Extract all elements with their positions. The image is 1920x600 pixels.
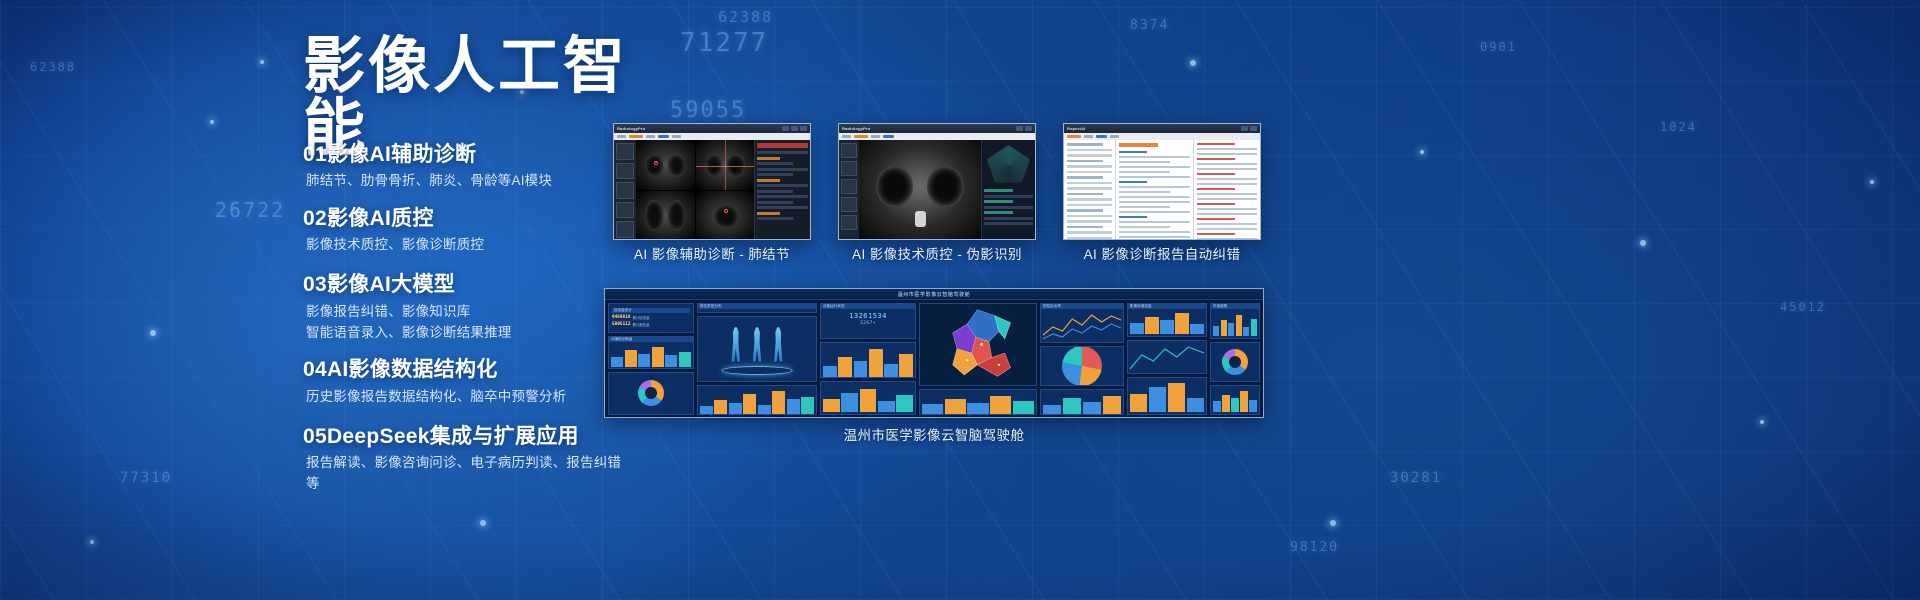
line-chart-card[interactable]: 阳性检出率 — [1040, 303, 1124, 343]
feature-list: 01影像AI辅助诊断 肺结节、肋骨骨折、肺炎、骨龄等AI模块 02影像AI质控 … — [303, 142, 633, 507]
kpi-label: 累计检查量 — [633, 315, 650, 320]
dashboard-header: 温州市医学影像云智脑驾驶舱 — [605, 289, 1263, 300]
panel-title: 影像存储容量 — [1130, 304, 1152, 309]
image-grid[interactable] — [636, 140, 754, 240]
toolbar-button[interactable] — [782, 126, 789, 131]
panel-header — [757, 143, 808, 148]
qc-row[interactable] — [984, 217, 1033, 220]
menubar — [839, 133, 1035, 140]
finding-row[interactable] — [757, 206, 808, 209]
finding-row[interactable] — [757, 157, 780, 160]
menu-item[interactable] — [1096, 135, 1107, 138]
ct-slice-sagittal[interactable] — [696, 191, 755, 240]
panel-title: 年度趋势 — [1213, 304, 1227, 309]
kpi-value: 6459818 — [612, 315, 631, 320]
feature-subtitle-05: 报告解读、影像咨询问诊、电子病历判读、报告纠错等 — [303, 453, 633, 495]
dashboard-column-trend: 阳性检出率 — [1040, 303, 1124, 415]
donut-chart — [1222, 349, 1248, 375]
bar-chart — [609, 342, 693, 369]
list-item: 01影像AI辅助诊断 肺结节、肋骨骨折、肺炎、骨龄等AI模块 — [303, 142, 633, 192]
feature-title-01: 01影像AI辅助诊断 — [303, 142, 633, 168]
bar-chart — [821, 343, 915, 378]
finding-row[interactable] — [757, 168, 808, 171]
series-thumbnail[interactable] — [841, 197, 857, 212]
screenshot-ai-lung-nodule[interactable]: RadiologyPro — [613, 123, 811, 240]
finding-row[interactable] — [757, 212, 780, 215]
finding-row[interactable] — [757, 179, 780, 182]
bar-chart — [1211, 386, 1259, 414]
toolbar-button[interactable] — [791, 126, 798, 131]
bar-chart — [920, 390, 1036, 415]
kpi-card[interactable]: 检查量统计 6459818累计检查量 5805112累计报告量 — [608, 303, 694, 333]
panel-title: AI辅助诊断量 — [611, 337, 632, 342]
kpi-label: 累计报告量 — [633, 322, 650, 327]
qc-row[interactable] — [984, 222, 1033, 225]
qc-row[interactable] — [984, 200, 1013, 203]
big-counter-card[interactable]: 设备运行状态 13261534 3267+ — [820, 303, 916, 339]
finding-row[interactable] — [757, 190, 793, 193]
feature-subtitle-03-line1: 影像报告纠错、影像知识库 — [303, 302, 633, 323]
qc-row[interactable] — [984, 211, 1013, 214]
menu-item[interactable] — [1110, 135, 1119, 138]
region-map-card[interactable] — [919, 303, 1037, 386]
body-figure — [729, 327, 742, 363]
window-titlebar: ReportAI — [1064, 124, 1260, 133]
finding-row[interactable] — [757, 184, 808, 187]
qc-result-panel[interactable] — [981, 140, 1035, 240]
menu-item[interactable] — [672, 135, 681, 138]
window-titlebar: RadiologyPro — [614, 124, 810, 133]
region-map — [920, 304, 1036, 385]
menu-item[interactable] — [842, 135, 851, 138]
bar-chart-card[interactable] — [1040, 389, 1124, 415]
thumbnail-rail[interactable] — [614, 140, 636, 240]
bar-chart — [821, 382, 915, 414]
list-item: 05DeepSeek集成与扩展应用 报告解读、影像咨询问诊、电子病历判读、报告纠… — [303, 424, 633, 495]
series-thumbnail[interactable] — [841, 179, 857, 194]
dashboard-column-mid2: 影像存储容量 — [1127, 303, 1207, 415]
app-label: RadiologyPro — [842, 126, 870, 131]
menu-item[interactable] — [658, 135, 669, 138]
correction-suggestions-panel[interactable] — [1194, 140, 1260, 240]
menu-item[interactable] — [1067, 135, 1081, 138]
menu-item[interactable] — [617, 135, 626, 138]
dashboard-column-left: 检查量统计 6459818累计检查量 5805112累计报告量 AI辅助诊断量 — [608, 303, 694, 415]
close-icon[interactable] — [1250, 126, 1257, 131]
bar-chart-card[interactable] — [1210, 385, 1260, 415]
viewer-body — [614, 140, 810, 240]
nodule-marker — [654, 161, 658, 165]
report-title-bar — [1119, 143, 1158, 147]
series-thumbnail[interactable] — [841, 143, 857, 158]
screenshot-cloud-brain-dashboard[interactable]: 温州市医学影像云智脑驾驶舱 检查量统计 6459818累计检查量 5805112… — [604, 288, 1264, 418]
toolbar-button[interactable] — [1016, 126, 1023, 131]
screenshot-ai-artifact-qc[interactable]: RadiologyPro — [838, 123, 1036, 240]
bar-chart-card[interactable] — [697, 385, 817, 415]
finding-row[interactable] — [757, 162, 793, 165]
screenshot-caption-1: AI 影像辅助诊断 - 肺结节 — [613, 243, 811, 263]
line-chart-card[interactable] — [1127, 340, 1207, 374]
dashboard-body: 检查量统计 6459818累计检查量 5805112累计报告量 AI辅助诊断量 … — [605, 300, 1263, 418]
bar-chart-card[interactable] — [1127, 377, 1207, 415]
bar-chart-card[interactable] — [919, 389, 1037, 415]
human-body-visual[interactable] — [697, 316, 817, 382]
list-item: 02影像AI质控 影像技术质控、影像诊断质控 — [303, 206, 633, 256]
menu-item[interactable] — [871, 135, 880, 138]
feature-subtitle-02: 影像技术质控、影像诊断质控 — [303, 235, 633, 256]
app-label: ReportAI — [1067, 126, 1086, 131]
bar-chart — [1041, 390, 1123, 415]
feature-subtitle-03-line2: 智能语音录入、影像诊断结果推理 — [303, 323, 633, 344]
series-thumbnail[interactable] — [616, 221, 634, 238]
radar-chart — [986, 145, 1032, 185]
feature-title-05: 05DeepSeek集成与扩展应用 — [303, 424, 633, 450]
list-item: 03影像AI大模型 影像报告纠错、影像知识库 智能语音录入、影像诊断结果推理 — [303, 272, 633, 343]
dashboard-caption: 温州市医学影像云智脑驾驶舱 — [604, 424, 1264, 444]
menubar — [614, 133, 810, 140]
thumbnail-rail[interactable] — [839, 140, 859, 240]
bar-chart — [1211, 309, 1259, 338]
dashboard-column-right: 年度趋势 — [1210, 303, 1260, 415]
worklist-panel[interactable] — [1064, 140, 1116, 240]
series-thumbnail[interactable] — [616, 143, 634, 160]
report-body — [1064, 140, 1260, 240]
menu-item[interactable] — [854, 135, 868, 138]
bar-chart-card[interactable]: AI辅助诊断量 — [608, 336, 694, 369]
menubar — [1064, 133, 1260, 140]
ct-slice-axial[interactable] — [696, 140, 755, 190]
big-counter-sub: 3267+ — [821, 320, 915, 326]
donut-chart-card[interactable] — [1210, 342, 1260, 382]
feature-title-04: 04AI影像数据结构化 — [303, 357, 633, 383]
series-thumbnail[interactable] — [616, 202, 634, 219]
menu-item[interactable] — [1084, 135, 1093, 138]
toolbar-button[interactable] — [1241, 126, 1248, 131]
finding-row[interactable] — [757, 173, 793, 176]
finding-row[interactable] — [757, 217, 793, 220]
dashboard-column-map — [919, 303, 1037, 415]
ai-findings-panel[interactable] — [754, 140, 810, 240]
menu-item[interactable] — [646, 135, 655, 138]
close-icon[interactable] — [800, 126, 807, 131]
qc-row[interactable] — [984, 206, 1033, 209]
screenshot-report-auto-correct[interactable]: ReportAI — [1063, 123, 1261, 240]
ct-chest-image[interactable] — [859, 140, 981, 240]
dashboard-column-human: 报告类型分布 — [697, 303, 817, 415]
donut-chart — [638, 380, 664, 406]
sparkline — [1041, 309, 1123, 342]
feature-subtitle-04: 历史影像报告数据结构化、脑卒中预警分析 — [303, 387, 633, 408]
feature-title-03: 03影像AI大模型 — [303, 272, 633, 298]
series-thumbnail[interactable] — [616, 182, 634, 199]
panel-title: 检查量统计 — [614, 308, 632, 313]
body-figure — [772, 327, 785, 363]
qc-row[interactable] — [984, 189, 1013, 192]
panel-title: 报告类型分布 — [700, 304, 722, 309]
finding-row[interactable] — [757, 201, 793, 204]
sparkline — [1128, 341, 1206, 374]
dashboard-title: 温州市医学影像云智脑驾驶舱 — [898, 291, 971, 298]
window-titlebar: RadiologyPro — [839, 124, 1035, 133]
panel-header-card: 报告类型分布 — [697, 303, 817, 313]
menu-item[interactable] — [883, 135, 894, 138]
app-label: RadiologyPro — [617, 126, 645, 131]
viewer-body — [839, 140, 1035, 240]
ct-slice-coronal[interactable] — [636, 191, 695, 240]
feature-subtitle-01: 肺结节、肋骨骨折、肺炎、骨龄等AI模块 — [303, 171, 633, 192]
screenshot-caption-3: AI 影像诊断报告自动纠错 — [1063, 243, 1261, 263]
panel-title: 设备运行状态 — [823, 304, 845, 309]
dashboard-column-counter: 设备运行状态 13261534 3267+ — [820, 303, 916, 415]
qc-row[interactable] — [984, 195, 1033, 198]
donut-chart-card[interactable] — [608, 372, 694, 415]
bar-chart-card[interactable] — [820, 381, 916, 415]
banner-text-column: 影像人工智能 01影像AI辅助诊断 肺结节、肋骨骨折、肺炎、骨龄等AI模块 02… — [0, 0, 640, 600]
bar-chart — [698, 386, 816, 415]
list-item: 04AI影像数据结构化 历史影像报告数据结构化、脑卒中预警分析 — [303, 357, 633, 407]
series-thumbnail[interactable] — [841, 215, 857, 230]
nodule-marker — [724, 209, 728, 213]
finding-row[interactable] — [757, 151, 808, 154]
glow-ring — [722, 366, 793, 375]
body-figure — [751, 327, 764, 363]
pie-chart — [1062, 346, 1102, 386]
screenshot-caption-2: AI 影像技术质控 - 伪影识别 — [838, 243, 1036, 263]
report-editor[interactable] — [1116, 140, 1194, 240]
feature-title-02: 02影像AI质控 — [303, 206, 633, 232]
bar-chart — [1128, 378, 1206, 414]
pie-chart-card[interactable] — [1040, 346, 1124, 386]
bar-chart-card[interactable] — [820, 342, 916, 378]
bar-chart — [1128, 309, 1206, 336]
big-counter-value: 13261534 — [821, 309, 915, 320]
menu-item[interactable] — [629, 135, 643, 138]
ct-slice-axial[interactable] — [636, 140, 695, 190]
kpi-value: 5805112 — [612, 322, 631, 327]
series-thumbnail[interactable] — [616, 163, 634, 180]
series-thumbnail[interactable] — [841, 161, 857, 176]
bar-chart-card[interactable]: 年度趋势 — [1210, 303, 1260, 339]
close-icon[interactable] — [1025, 126, 1032, 131]
bar-chart-card[interactable]: 影像存储容量 — [1127, 303, 1207, 337]
finding-row[interactable] — [757, 195, 808, 198]
